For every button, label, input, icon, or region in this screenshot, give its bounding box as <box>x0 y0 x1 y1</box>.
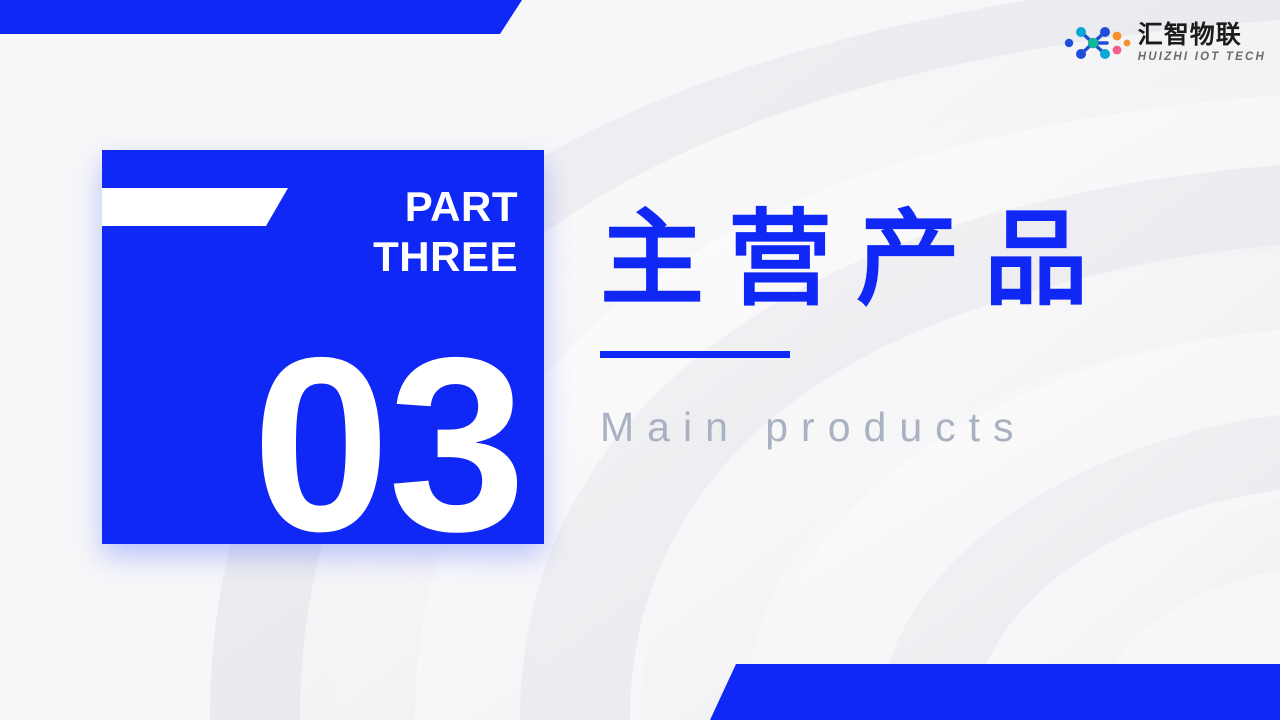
title-divider <box>600 351 790 358</box>
slide-canvas: 汇智物联 HUIZHI IOT TECH PARTTHREE 03 主营产品 M… <box>0 0 1280 720</box>
card-accent-bar <box>102 188 288 226</box>
top-left-blue-banner <box>0 0 522 34</box>
part-label: PARTTHREE <box>278 182 518 281</box>
molecule-network-icon <box>1059 22 1131 64</box>
bottom-right-blue-banner <box>710 664 1280 720</box>
brand-name-en: HUIZHI IOT TECH <box>1138 52 1266 64</box>
section-title-cn: 主营产品 <box>600 206 1260 315</box>
section-title-en: Main products <box>600 404 1260 451</box>
section-number-card: PARTTHREE 03 <box>102 150 544 544</box>
brand-logo: 汇智物联 HUIZHI IOT TECH <box>1059 22 1266 64</box>
brand-name-cn: 汇智物联 <box>1138 23 1266 48</box>
section-title-block: 主营产品 Main products <box>600 206 1260 451</box>
section-number: 03 <box>252 320 524 568</box>
brand-logo-text: 汇智物联 HUIZHI IOT TECH <box>1138 23 1266 64</box>
